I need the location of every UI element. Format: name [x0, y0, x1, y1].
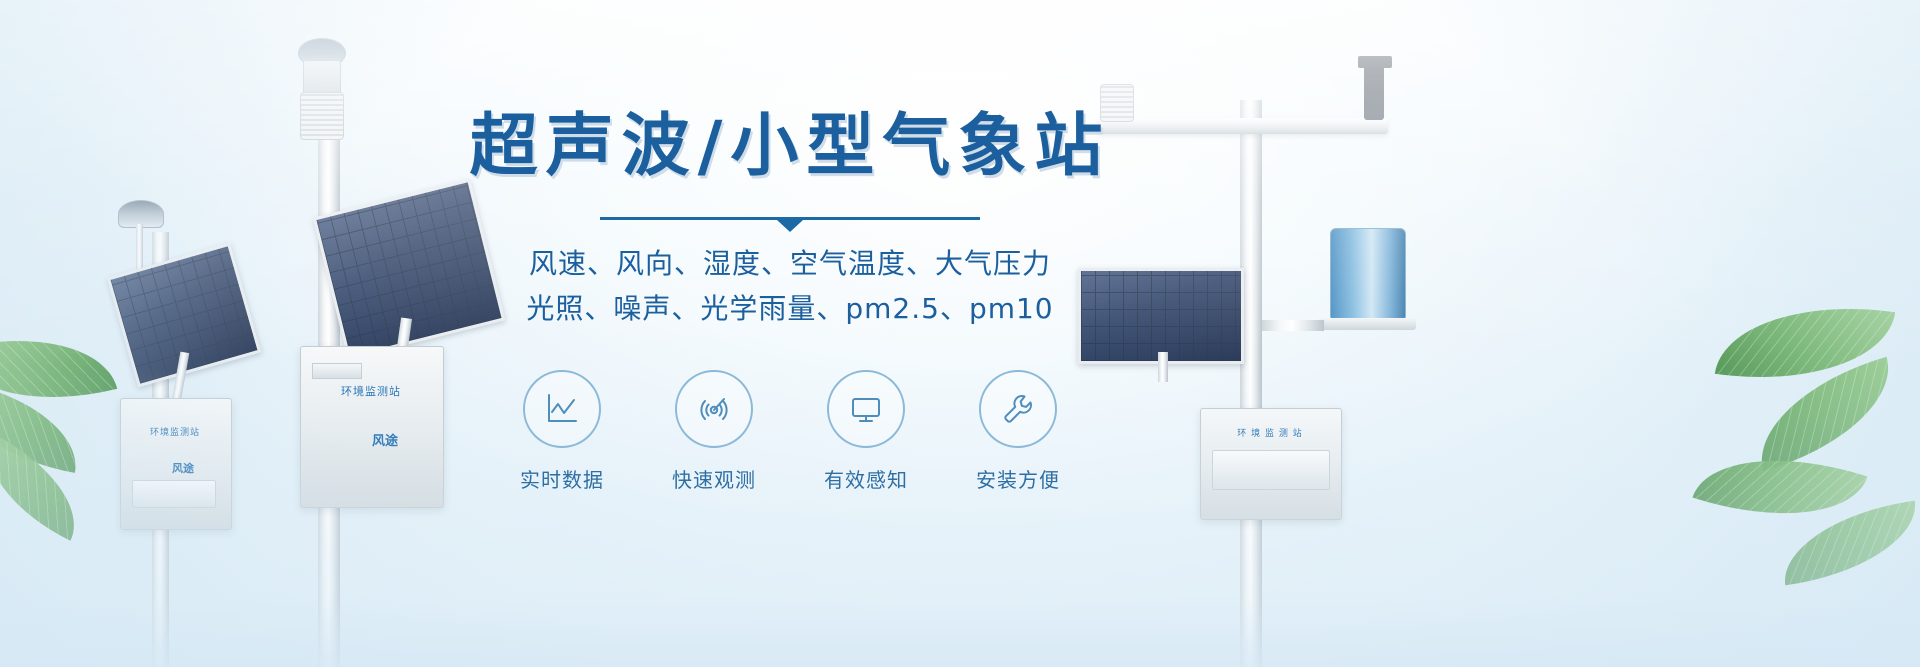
- radar-signal-icon: [675, 370, 753, 448]
- banner-content: 超声波/小型气象站 风速、风向、湿度、空气温度、大气压力 光照、噪声、光学雨量、…: [440, 110, 1140, 580]
- right-cabinet-vent: [1212, 450, 1330, 490]
- feature-label: 有效感知: [824, 464, 908, 493]
- ground-gradient: [0, 597, 1920, 667]
- feature-label: 快速观测: [672, 464, 756, 493]
- banner-subtitle-line-2: 光照、噪声、光学雨量、pm2.5、pm10: [440, 286, 1140, 331]
- feature-item-easy-installation[interactable]: 安装方便: [954, 370, 1082, 493]
- title-divider: [440, 207, 1140, 233]
- banner-title: 超声波/小型气象站: [440, 110, 1140, 185]
- center-radiation-shield-icon: [300, 92, 344, 140]
- right-arm-anemometer-icon: [1364, 62, 1384, 120]
- leaf-shape: [1776, 501, 1920, 586]
- feature-item-realtime-data[interactable]: 实时数据: [498, 370, 626, 493]
- line-chart-icon: [523, 370, 601, 448]
- right-cross-arm: [1098, 118, 1388, 134]
- right-rain-gauge-base: [1318, 318, 1416, 330]
- right-station-label: 环 境 监 测 站: [1200, 426, 1340, 439]
- right-panel-bracket: [1158, 352, 1168, 382]
- feature-item-fast-observation[interactable]: 快速观测: [650, 370, 778, 493]
- banner-subtitle-line-1: 风速、风向、湿度、空气温度、大气压力: [440, 241, 1140, 286]
- feature-label: 实时数据: [520, 464, 604, 493]
- feature-label: 安装方便: [976, 464, 1060, 493]
- center-station-brand: 风途: [372, 430, 398, 449]
- left-station-label: 环境监测站: [120, 425, 230, 438]
- feature-list: 实时数据 快速观测: [440, 370, 1140, 493]
- right-station-mast: [1240, 100, 1262, 667]
- left-station-brand: 风途: [172, 460, 194, 476]
- center-station-label: 环境监测站: [300, 383, 442, 399]
- monitor-screen-icon: [827, 370, 905, 448]
- divider-triangle-icon: [777, 220, 803, 232]
- center-cabinet-vent: [312, 363, 362, 379]
- center-sensor-body: [303, 60, 341, 96]
- right-gauge-arm: [1262, 320, 1324, 331]
- wrench-tool-icon: [979, 370, 1057, 448]
- right-arm-wind-vane-icon: [1358, 56, 1392, 68]
- feature-item-effective-sensing[interactable]: 有效感知: [802, 370, 930, 493]
- product-banner: 环境监测站 风途 环境监测站 风途: [0, 0, 1920, 667]
- right-rain-gauge-icon: [1330, 228, 1406, 322]
- left-cabinet-vent: [132, 480, 216, 508]
